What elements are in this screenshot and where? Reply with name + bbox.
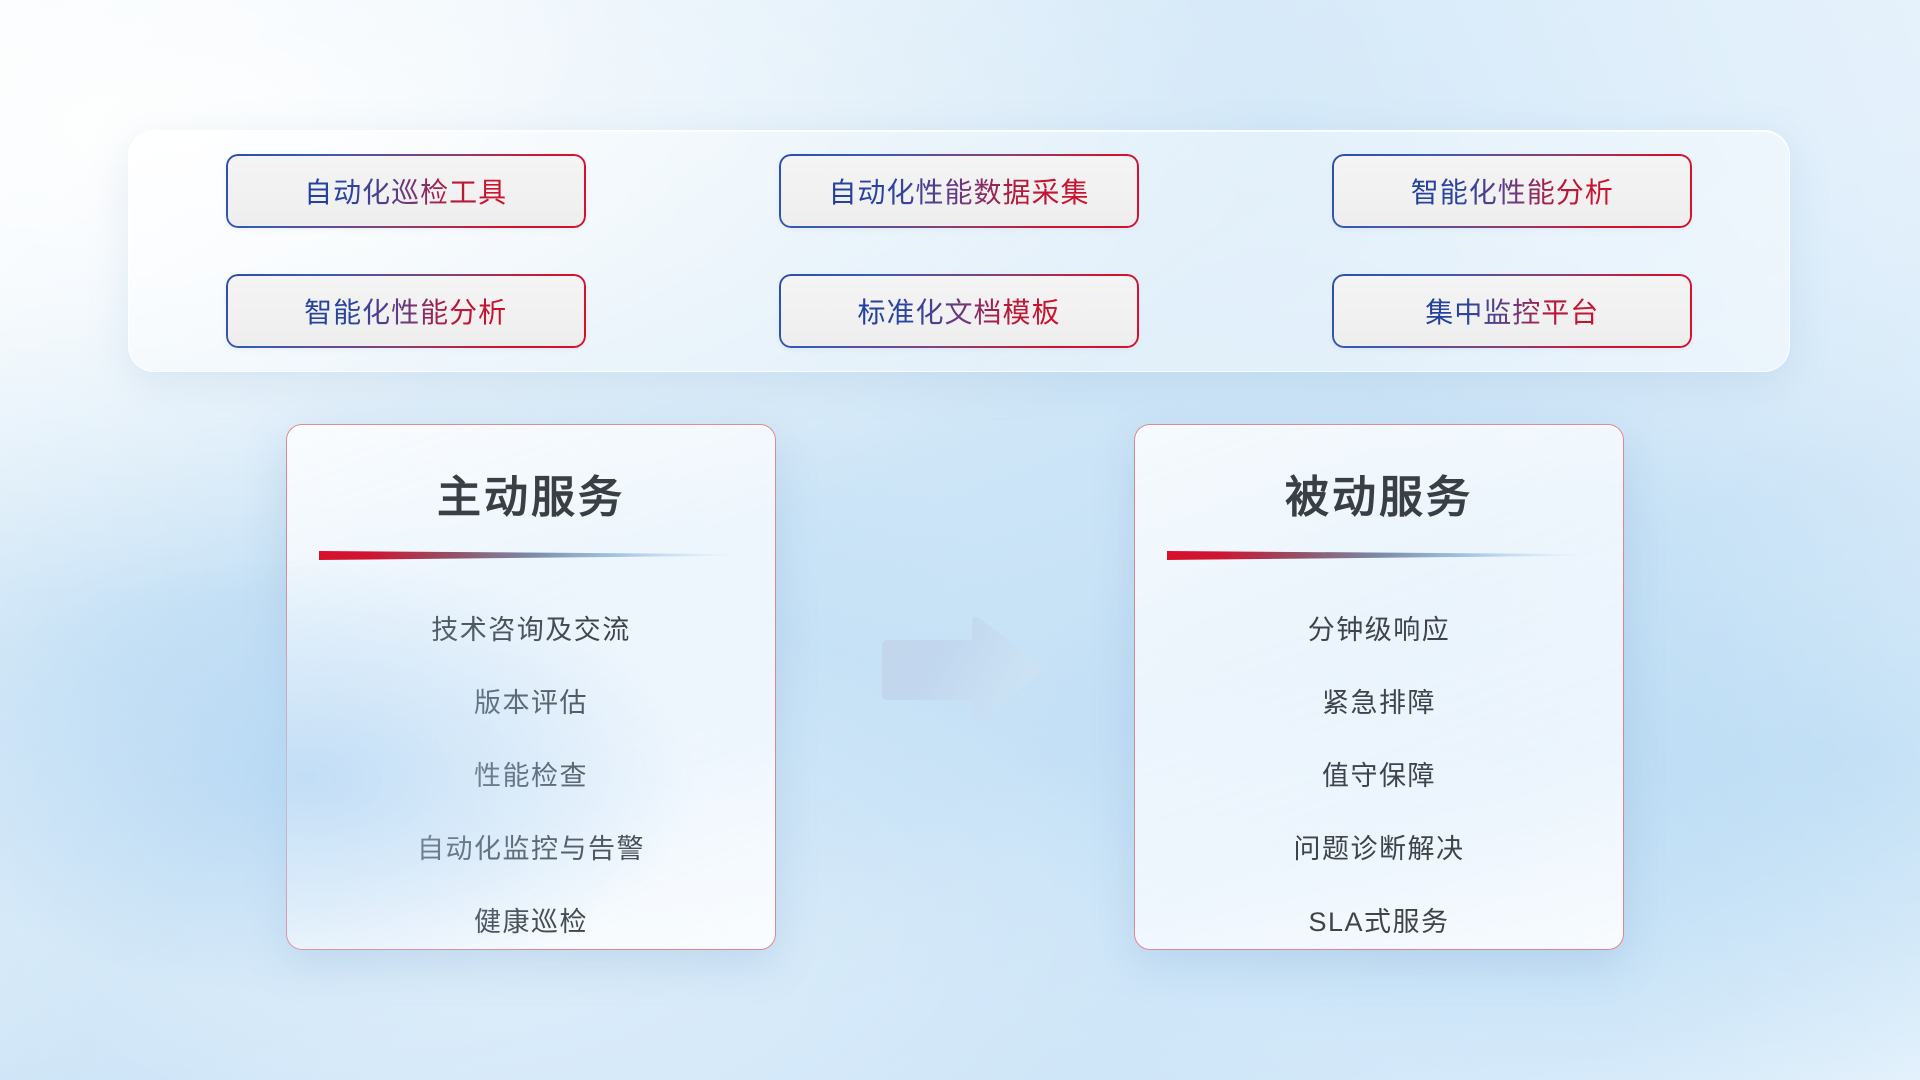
capability-pill-label: 标准化文档模板 (857, 291, 1060, 331)
service-card-proactive: 主动服务 技术咨询及交流 版本评估 (286, 424, 776, 950)
capability-pill-label: 智能化性能分析 (304, 291, 507, 331)
service-card-title: 被动服务 (1135, 461, 1623, 525)
service-list-item: SLA式服务 (1135, 883, 1623, 950)
service-list-item: 技术咨询及交流 (287, 591, 775, 664)
service-list-item: 值守保障 (1135, 737, 1623, 810)
slide-canvas: 自动化巡检工具 自动化性能数据采集 智能化性能分析 智能化性能分析 标准化文档模… (0, 0, 1920, 1080)
service-list-item: 紧急排障 (1135, 664, 1623, 737)
capability-pill[interactable]: 智能化性能分析 (228, 276, 584, 346)
capability-pill-grid: 自动化巡检工具 自动化性能数据采集 智能化性能分析 智能化性能分析 标准化文档模… (129, 131, 1789, 371)
capabilities-panel: 自动化巡检工具 自动化性能数据采集 智能化性能分析 智能化性能分析 标准化文档模… (128, 130, 1790, 372)
service-list-item: 自动化监控与告警 (287, 810, 775, 883)
capability-pill-label: 集中监控平台 (1425, 291, 1599, 331)
service-list-item: 分钟级响应 (1135, 591, 1623, 664)
service-item-list: 分钟级响应 紧急排障 值守保障 问题诊断解决 SLA式服务 (1135, 591, 1623, 950)
capability-pill-label: 自动化巡检工具 (304, 171, 507, 211)
capability-pill[interactable]: 自动化性能数据采集 (781, 156, 1137, 226)
gradient-divider-icon (1167, 549, 1595, 561)
service-card-title: 主动服务 (287, 461, 775, 525)
service-list-item: 问题诊断解决 (1135, 810, 1623, 883)
capability-pill[interactable]: 自动化巡检工具 (228, 156, 584, 226)
title-divider-wrap (287, 547, 775, 565)
arrow-right-icon (876, 610, 1044, 730)
title-divider-wrap (1135, 547, 1623, 565)
service-card-reactive: 被动服务 分钟级响应 紧急排障 (1134, 424, 1624, 950)
service-list-item: 版本评估 (287, 664, 775, 737)
capability-pill-label: 智能化性能分析 (1411, 171, 1614, 211)
capability-pill[interactable]: 集中监控平台 (1334, 276, 1690, 346)
gradient-divider-icon (319, 549, 747, 561)
service-item-list: 技术咨询及交流 版本评估 性能检查 自动化监控与告警 健康巡检 (287, 591, 775, 950)
service-list-item: 性能检查 (287, 737, 775, 810)
capability-pill[interactable]: 标准化文档模板 (781, 276, 1137, 346)
service-list-item: 健康巡检 (287, 883, 775, 950)
capability-pill-label: 自动化性能数据采集 (828, 171, 1089, 211)
capability-pill[interactable]: 智能化性能分析 (1334, 156, 1690, 226)
